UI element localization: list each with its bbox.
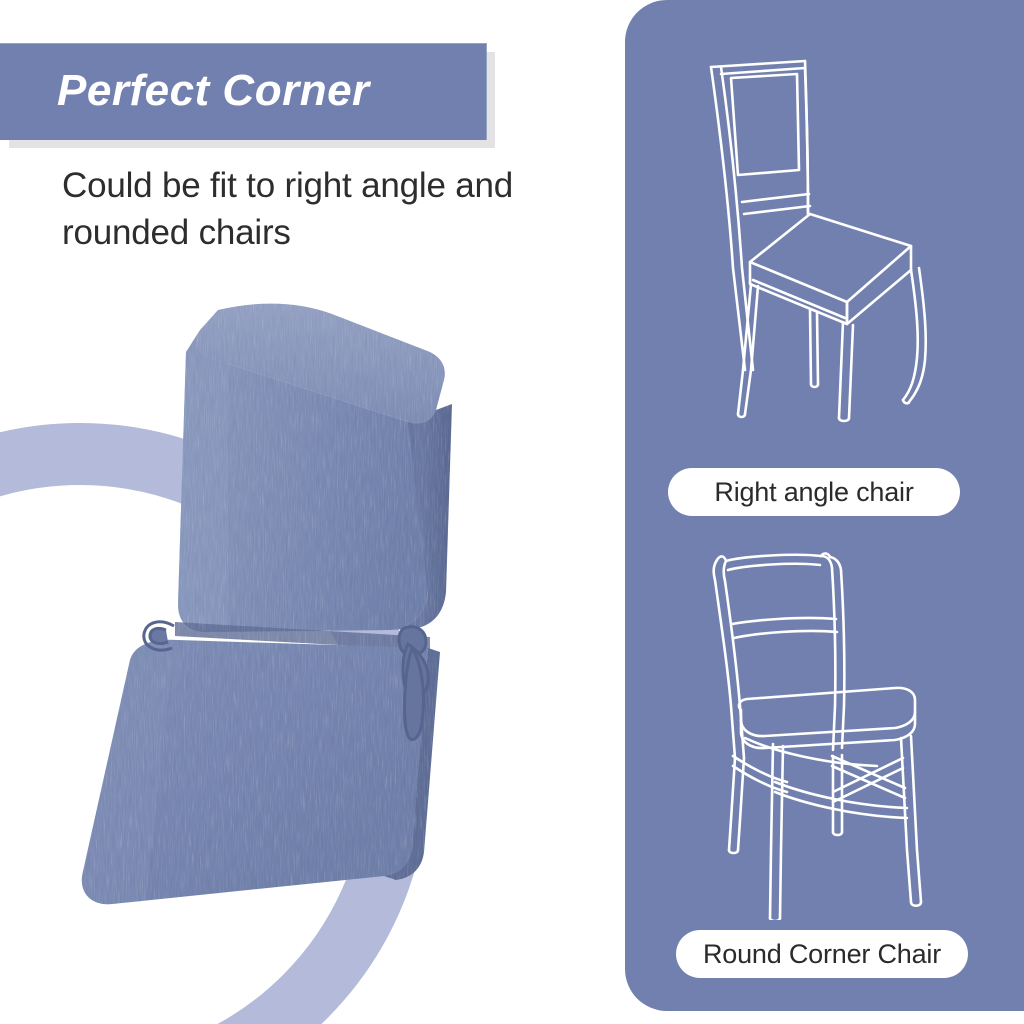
left-content-column: Perfect Corner Could be fit to right ang… xyxy=(0,0,625,1024)
label-round-corner-chair-text: Round Corner Chair xyxy=(703,939,941,970)
infographic-canvas: Perfect Corner Could be fit to right ang… xyxy=(0,0,1024,1024)
chair-cushion-product-image xyxy=(0,292,490,972)
right-angle-chair-line-art xyxy=(625,18,1024,448)
subtitle-text: Could be fit to right angle and rounded … xyxy=(62,163,607,256)
page-title: Perfect Corner xyxy=(57,69,370,113)
label-right-angle-chair-text: Right angle chair xyxy=(714,477,913,508)
subtitle-line-1: Could be fit to right angle and xyxy=(62,163,607,210)
title-banner: Perfect Corner xyxy=(0,43,487,140)
label-right-angle-chair: Right angle chair xyxy=(668,468,960,516)
subtitle-line-2: rounded chairs xyxy=(62,210,607,257)
label-round-corner-chair: Round Corner Chair xyxy=(676,930,968,978)
chair-examples-panel: Right angle chair xyxy=(625,0,1024,1011)
round-corner-chair-line-art xyxy=(625,520,1024,920)
